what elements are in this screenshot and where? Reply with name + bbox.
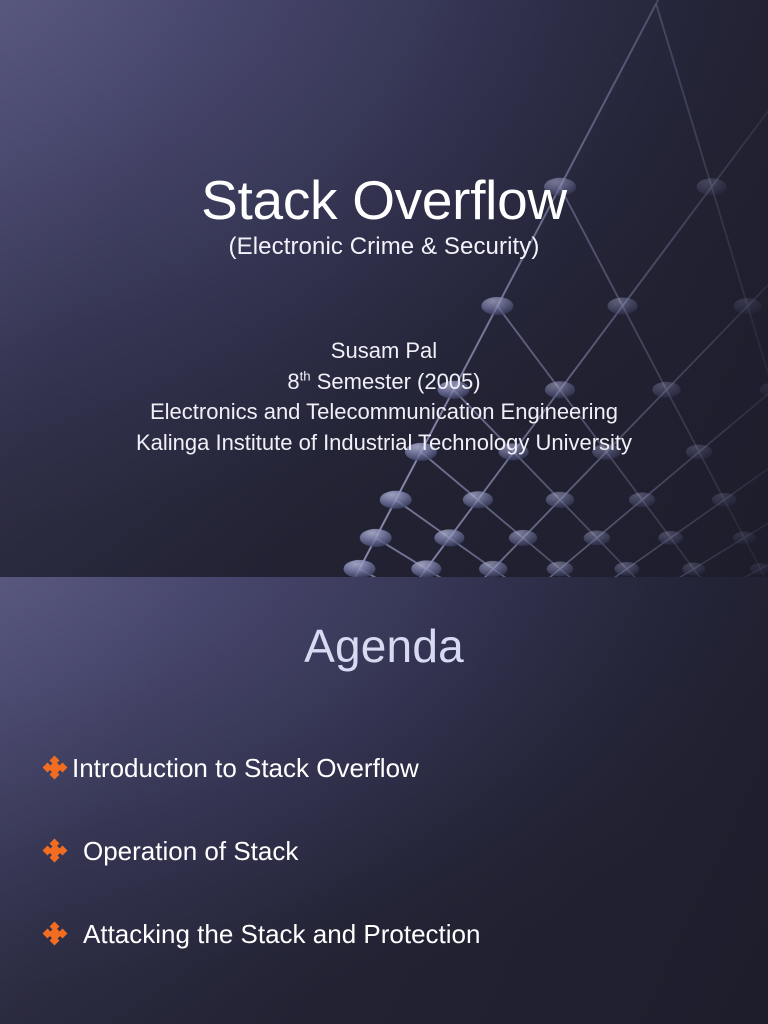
agenda-title: Agenda — [0, 619, 768, 673]
agenda-item[interactable]: Operation of Stack — [44, 836, 728, 866]
author-semester: 8th Semester (2005) — [0, 367, 768, 398]
title-slide: Stack Overflow (Electronic Crime & Secur… — [0, 0, 768, 577]
perspective-grid-mesh-icon — [0, 0, 768, 577]
four-diamond-bullet-icon — [44, 757, 66, 779]
semester-number: 8 — [287, 369, 299, 394]
agenda-item-label: Attacking the Stack and Protection — [83, 919, 480, 950]
four-diamond-bullet-icon — [44, 840, 66, 862]
four-diamond-bullet-icon — [44, 923, 66, 945]
title-block: Stack Overflow (Electronic Crime & Secur… — [0, 172, 768, 261]
deck-subtitle: (Electronic Crime & Security) — [0, 233, 768, 261]
deck-title: Stack Overflow — [0, 172, 768, 229]
agenda-item-label: Operation of Stack — [83, 836, 298, 867]
agenda-item-label: Introduction to Stack Overflow — [72, 753, 419, 784]
author-block: Susam Pal 8th Semester (2005) Electronic… — [0, 336, 768, 458]
agenda-item[interactable]: Introduction to Stack Overflow — [44, 753, 728, 783]
semester-ordinal: th — [300, 368, 311, 383]
agenda-list: Introduction to Stack OverflowOperation … — [44, 753, 728, 949]
agenda-slide: Agenda Introduction to Stack OverflowOpe… — [0, 577, 768, 1024]
author-institution: Kalinga Institute of Industrial Technolo… — [0, 428, 768, 459]
author-department: Electronics and Telecommunication Engine… — [0, 397, 768, 428]
slide-deck: Stack Overflow (Electronic Crime & Secur… — [0, 0, 768, 1024]
agenda-item[interactable]: Attacking the Stack and Protection — [44, 919, 728, 949]
author-name: Susam Pal — [0, 336, 768, 367]
semester-rest: Semester (2005) — [311, 369, 481, 394]
